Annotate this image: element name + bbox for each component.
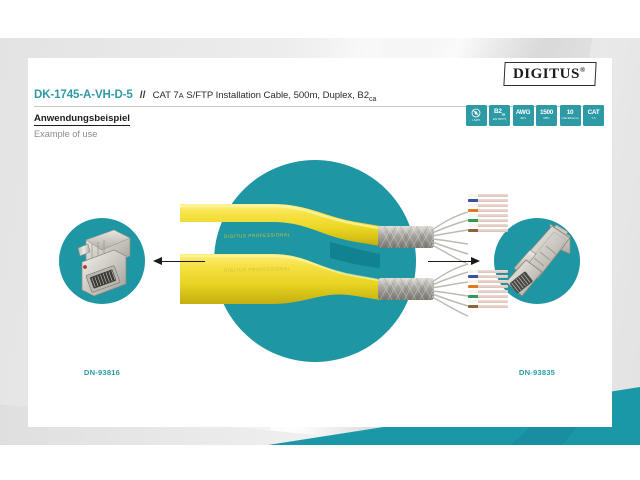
section-heading-block: Anwendungsbeispiel Example of use (34, 108, 130, 139)
right-product-label: DN-93835 (482, 368, 592, 377)
wire-white-brown (468, 224, 508, 227)
wire-white-blue (468, 194, 508, 197)
keystone-jack-image (68, 222, 138, 302)
top-white-band (0, 0, 640, 38)
b2ca-badge: B2ca EN 50575 (489, 105, 510, 126)
wire-blue (468, 199, 508, 202)
logo-wordmark: DIGITUS (513, 66, 580, 82)
description-prefix: CAT 7 (153, 90, 179, 101)
wire-orange (468, 209, 508, 212)
digitus-logo: DIGITUS® (504, 62, 597, 86)
arrow-to-rj45-plug (428, 256, 480, 266)
product-description: CAT 7A S/FTP Installation Cable, 500m, D… (153, 90, 377, 103)
wire-white-green (468, 214, 508, 217)
wire-brown (468, 229, 508, 232)
wire-green (468, 219, 508, 222)
lszh-badge: LSZH (466, 105, 487, 126)
wire-blue (468, 275, 508, 278)
cat-badge-label: 7 A (591, 117, 595, 121)
ethernet-badge: 10 Gbit Ethernet (560, 105, 581, 126)
description-subscript: ca (369, 96, 376, 103)
description-unit: m, Duplex, B2 (309, 90, 369, 101)
wire-white-orange (468, 280, 508, 283)
application-illustration: DIGITUS PROFESSIONAL DIGITUS PROFESSIONA… (28, 150, 612, 400)
wire-white-blue (468, 270, 508, 273)
wire-brown (468, 305, 508, 308)
bottom-white-band (0, 445, 640, 480)
logo-trademark-symbol: ® (580, 66, 586, 74)
wire-orange (468, 285, 508, 288)
slide-canvas: DIGITUS® DK-1745-A-VH-D-5 // CAT 7A S/FT… (0, 0, 640, 480)
bandwidth-badge-label: MHz (543, 117, 549, 121)
rj45-plug-image (496, 216, 584, 308)
section-heading-de: Anwendungsbeispiel (34, 113, 130, 126)
title-separator: // (140, 89, 146, 101)
b2ca-badge-label: EN 50575 (493, 118, 506, 122)
cat-badge: CAT 7 A (583, 105, 604, 126)
wire-pair-stack-lower (468, 270, 508, 314)
ethernet-badge-label: Gbit Ethernet (562, 117, 579, 121)
awg-badge: AWG 22/1 (513, 105, 534, 126)
awg-badge-label: 22/1 (520, 117, 526, 121)
wire-green (468, 295, 508, 298)
document-page: DIGITUS® DK-1745-A-VH-D-5 // CAT 7A S/FT… (28, 58, 612, 427)
left-product-label: DN-93816 (47, 368, 157, 377)
wire-pair-stack-upper (468, 194, 508, 238)
wire-white-green (468, 290, 508, 293)
arrow-shaft (428, 261, 472, 262)
article-number: DK-1745-A-VH-D-5 (34, 89, 133, 101)
no-flame-icon (471, 108, 481, 118)
bandwidth-badge: 1500 MHz (536, 105, 557, 126)
lszh-badge-label: LSZH (472, 119, 480, 123)
wire-white-orange (468, 204, 508, 207)
description-mid: S/FTP Installation Cable, 500 (184, 90, 310, 101)
arrow-to-keystone-jack (153, 256, 205, 266)
wire-white-brown (468, 300, 508, 303)
section-heading-en: Example of use (34, 129, 130, 139)
arrow-head-right-icon (471, 257, 480, 265)
feature-badge-row: LSZH B2ca EN 50575 AWG 22/1 1500 MHz 10 … (466, 105, 605, 126)
arrow-shaft (161, 261, 205, 262)
